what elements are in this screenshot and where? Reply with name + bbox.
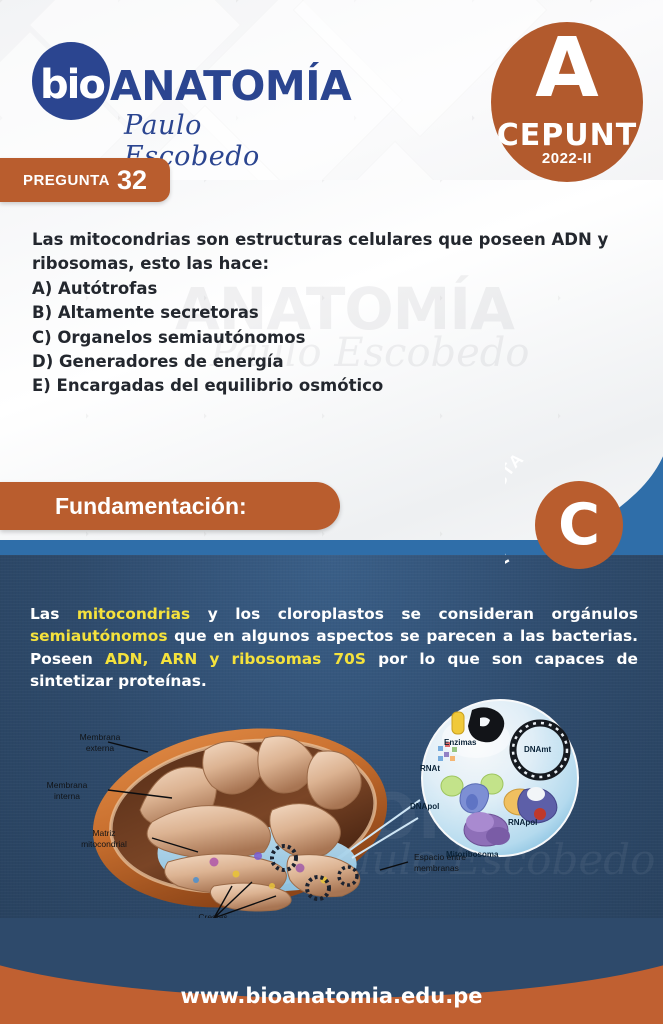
question-option-d[interactable]: D) Generadores de energía (32, 350, 632, 374)
answer-badge: RESPUESTA C (505, 448, 655, 598)
cepunt-period: 2022-II (491, 150, 643, 167)
footer-bar: www.bioanatomia.edu.pe (0, 954, 663, 1024)
inset-label-rnat: RNAt (420, 764, 440, 773)
label-membrana-externa: Membrana externa (62, 732, 138, 753)
question-option-b[interactable]: B) Altamente secretoras (32, 301, 632, 325)
explanation-highlight-2: semiautónomos (30, 627, 168, 645)
explanation-highlight-1: mitocondrias (77, 605, 190, 623)
explanation-part2: y los cloroplastos se consideran orgánul… (190, 605, 638, 623)
pregunta-number: 32 (117, 165, 147, 196)
label-membrana-externa-line2: externa (86, 743, 114, 753)
inset-label-dnapol: DNApol (410, 802, 439, 811)
label-membrana-interna-line2: interna (54, 791, 80, 801)
explanation-part1: Las (30, 605, 77, 623)
question-stem-line2: ribosomas, esto las hace: (32, 252, 632, 276)
svg-text:RESPUESTA: RESPUESTA (505, 449, 528, 570)
question-stem-line1: Las mitocondrias son estructuras celular… (32, 228, 632, 252)
answer-letter: C (558, 497, 600, 554)
label-matriz-line1: Matriz (92, 828, 115, 838)
cepunt-letter: A (491, 28, 643, 110)
label-matriz-line2: mitocondrial (81, 839, 127, 849)
fundamentacion-label: Fundamentación: (55, 493, 247, 520)
inset-label-mitoribosoma: Mitoribosoma (446, 850, 498, 859)
label-membrana-interna-line1: Membrana (47, 780, 88, 790)
poster-root: ANATOMÍA Paulo Escobedo ANATOMÍA Paulo E… (0, 0, 663, 1024)
cepunt-badge: A CEPUNT 2022-II (491, 22, 643, 182)
mitochondrion-diagram: Membrana externa Membrana interna Matriz… (0, 690, 663, 955)
question-option-e[interactable]: E) Encargadas del equilibrio osmótico (32, 374, 632, 398)
question-block: Las mitocondrias son estructuras celular… (32, 228, 632, 399)
footer-website-url[interactable]: www.bioanatomia.edu.pe (0, 984, 663, 1008)
explanation-highlight-3: ADN, ARN y ribosomas 70S (105, 650, 366, 668)
label-membrana-interna: Membrana interna (28, 780, 106, 801)
cepunt-exam-name: CEPUNT (491, 118, 643, 153)
pregunta-label: PREGUNTA (23, 172, 110, 189)
label-espacio-line2: membranas (414, 863, 459, 873)
inset-label-dnamt: DNAmt (524, 745, 551, 754)
question-number-tab: PREGUNTA 32 (0, 158, 170, 202)
inset-label-rnapol: RNApol (508, 818, 537, 827)
fundamentacion-banner: Fundamentación: (0, 482, 340, 530)
explanation-text: Las mitocondrias y los cloroplastos se c… (30, 603, 638, 692)
mitochondrion-illustration (0, 690, 663, 955)
inset-label-enzimas: Enzimas (444, 738, 476, 747)
question-option-c[interactable]: C) Organelos semiautónomos (32, 326, 632, 350)
brand-logo[interactable]: bio ANATOMÍA Paulo Escobedo (32, 40, 302, 140)
logo-bio-text: bio (40, 62, 104, 108)
question-option-a[interactable]: A) Autótrofas (32, 277, 632, 301)
respuesta-arc-label: RESPUESTA (505, 449, 528, 570)
logo-anatomia-text: ANATOMÍA (110, 62, 351, 110)
label-matriz-mitocondrial: Matriz mitocondrial (60, 828, 148, 849)
label-membrana-externa-line1: Membrana (80, 732, 121, 742)
answer-circle: C (535, 481, 623, 569)
